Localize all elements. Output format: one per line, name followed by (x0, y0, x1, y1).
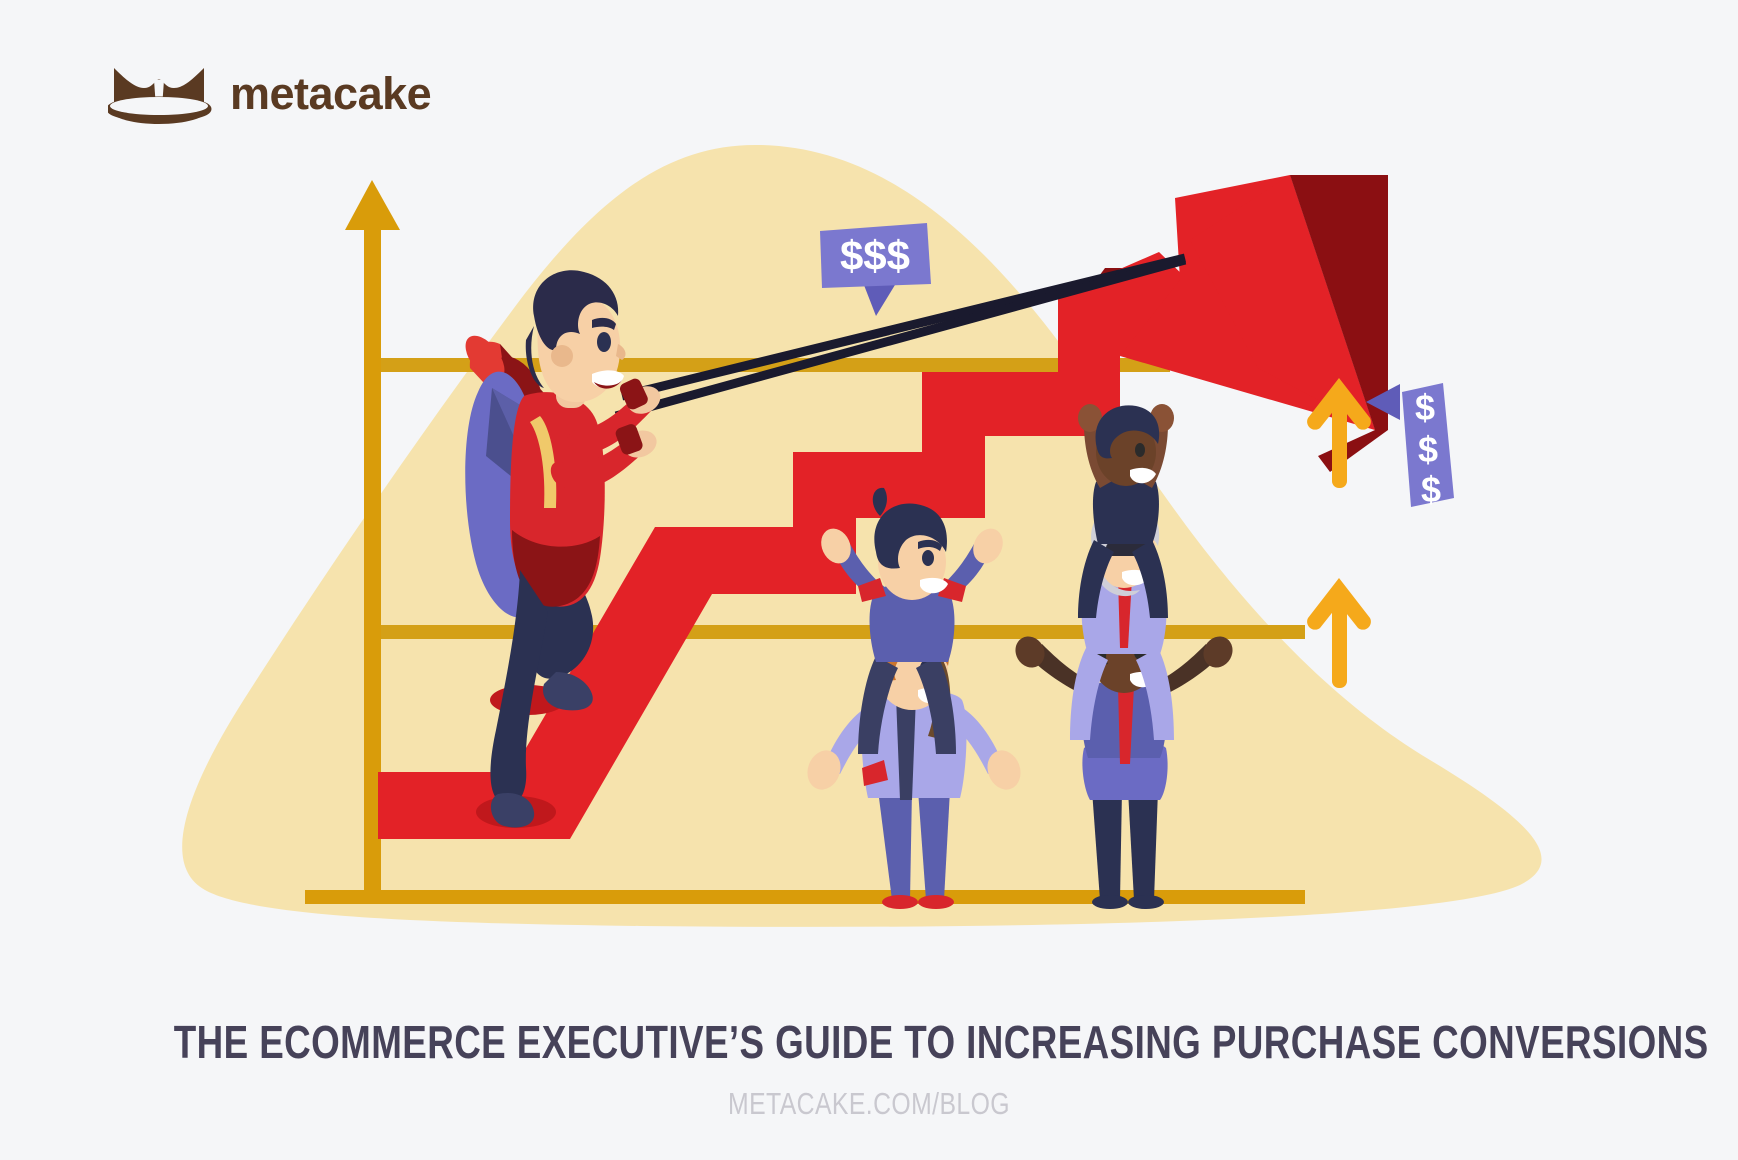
speech-bubble-right[interactable]: $ $ $ (1366, 383, 1454, 510)
speech-bubble-right-line-3: $ (1421, 469, 1441, 510)
growth-arrow-head-shadow2 (1318, 430, 1388, 472)
page-title: THE ECOMMERCE EXECUTIVE’S GUIDE TO INCRE… (174, 1018, 1564, 1066)
caption-block: THE ECOMMERCE EXECUTIVE’S GUIDE TO INCRE… (0, 1018, 1738, 1122)
speech-bubble-right-line-1: $ (1415, 387, 1435, 428)
growth-illustration: $$$ $ $ $ (0, 100, 1738, 930)
hiker-eye (597, 332, 611, 352)
infographic-page: metacake (0, 0, 1738, 1160)
speech-bubble-right-line-2: $ (1418, 429, 1438, 470)
speech-bubble-top-text: $$$ (840, 232, 910, 279)
page-subtitle-url: METACAKE.COM/BLOG (174, 1086, 1564, 1122)
up-arrow-bottom (1307, 578, 1371, 688)
y-axis-arrowhead (345, 180, 400, 230)
